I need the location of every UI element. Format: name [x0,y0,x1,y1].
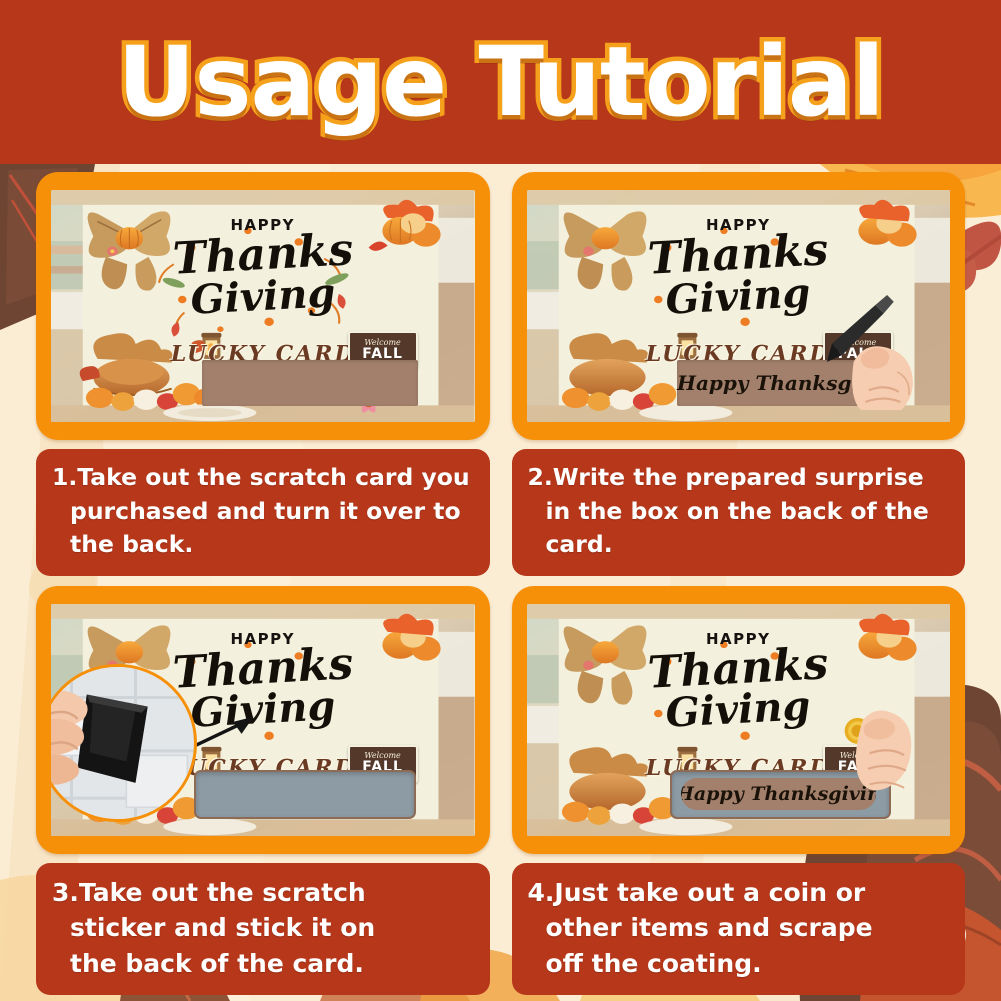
hand-with-coin-icon [843,686,922,815]
caption-line: sticker and stick it on [52,910,474,946]
steps-grid: HAPPY Thanks Giving LUCKY CARD Welcome F… [0,164,1001,1001]
header-banner: Usage Tutorial [0,0,1001,164]
page-title: Usage Tutorial [0,34,1001,130]
caption-line: 2.Write the prepared surprise [528,461,950,495]
step-3-image-frame: HAPPY Thanks Giving LUCKY CARD Welcome F… [36,586,490,854]
step-1-image-frame: HAPPY Thanks Giving LUCKY CARD Welcome F… [36,172,490,440]
step-2-caption: 2.Write the prepared surprise in the box… [512,449,966,576]
caption-line: 3.Take out the scratch [52,875,474,911]
caption-line: the back of the card. [52,946,474,982]
step-4-caption: 4.Just take out a coin or other items an… [512,863,966,996]
caption-line: card. [528,528,950,562]
step-2-card-preview: HAPPY Thanks Giving LUCKY CARD Welcome F… [527,190,951,422]
card-giving-text: Giving [189,275,336,319]
caption-line: 4.Just take out a coin or [528,875,950,911]
caption-line: the back. [52,528,474,562]
sign-fall-text: FALL [362,347,403,362]
step-2-image-frame: HAPPY Thanks Giving LUCKY CARD Welcome F… [512,172,966,440]
blank-write-box [202,360,418,406]
step-4-card-preview: HAPPY Thanks Giving LUCKY CARD Welcome F… [527,604,951,836]
step-3: HAPPY Thanks Giving LUCKY CARD Welcome F… [36,586,490,996]
step-4: HAPPY Thanks Giving LUCKY CARD Welcome F… [512,586,966,996]
caption-line: off the coating. [528,946,950,982]
step-1: HAPPY Thanks Giving LUCKY CARD Welcome F… [36,172,490,580]
card-giving-text: Giving [665,689,812,733]
step-3-card-preview: HAPPY Thanks Giving LUCKY CARD Welcome F… [51,604,475,836]
step-1-caption: 1.Take out the scratch card you purchase… [36,449,490,576]
step-2: HAPPY Thanks Giving LUCKY CARD Welcome F… [512,172,966,580]
scratch-sticker-inset-photo [51,664,197,822]
caption-line: purchased and turn it over to [52,495,474,529]
hand-with-pen-icon [825,285,926,410]
caption-line: other items and scrape [528,910,950,946]
step-3-caption: 3.Take out the scratch sticker and stick… [36,863,490,996]
card-giving-text: Giving [665,275,812,319]
hand-holding-sticker-icon [51,667,194,819]
scratch-coating-area [194,770,415,819]
step-1-card-preview: HAPPY Thanks Giving LUCKY CARD Welcome F… [51,190,475,422]
step-4-image-frame: HAPPY Thanks Giving LUCKY CARD Welcome F… [512,586,966,854]
caption-line: in the box on the back of the [528,495,950,529]
caption-line: 1.Take out the scratch card you [52,461,474,495]
